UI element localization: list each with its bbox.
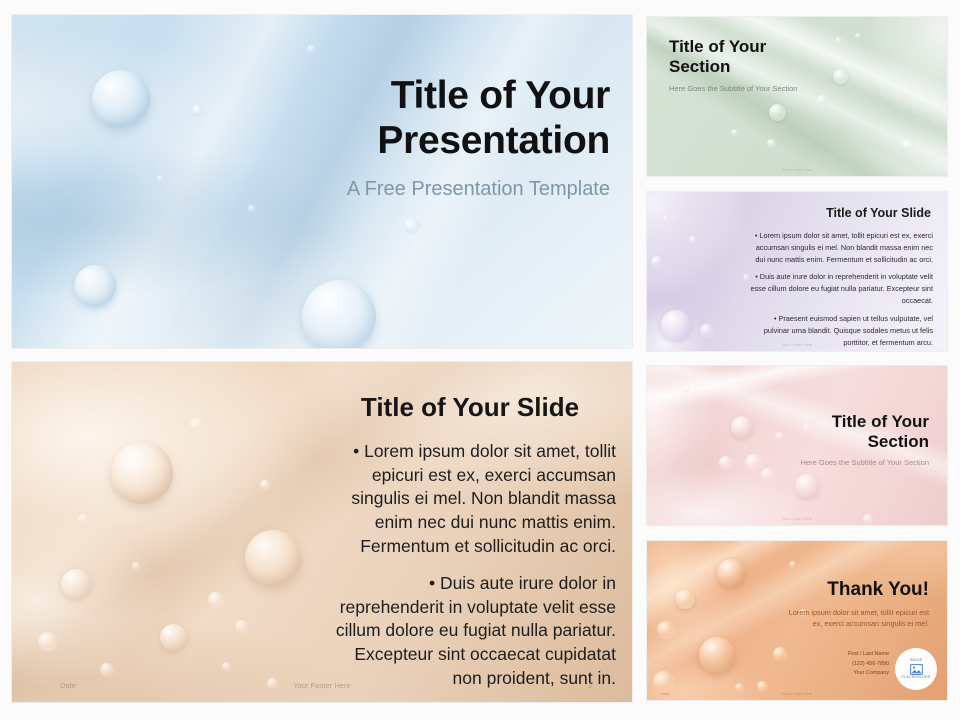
footer-text: Your Footer Here — [12, 681, 632, 690]
bullet-item: Duis aute irure dolor in reprehenderit i… — [747, 271, 933, 306]
bullet-list: Lorem ipsum dolor sit amet, tollit epicu… — [326, 440, 616, 702]
contact-name: First / Last Name — [809, 650, 889, 659]
water-droplet — [404, 218, 421, 235]
water-droplet — [160, 624, 187, 651]
slide-title-thumbnail[interactable]: Title of Your Presentation A Free Presen… — [12, 15, 632, 348]
water-droplet — [307, 45, 316, 54]
section-title: Title of Your Section — [669, 37, 819, 78]
water-droplet — [78, 514, 88, 524]
water-droplet — [689, 236, 697, 244]
water-droplet — [61, 569, 91, 599]
water-droplet — [245, 530, 301, 586]
water-droplet — [653, 671, 675, 693]
water-droplet — [700, 324, 714, 338]
contact-block: First / Last Name (123) 456-7890 Your Co… — [809, 650, 889, 678]
contact-company: Your Company — [809, 669, 889, 678]
water-droplet — [661, 310, 691, 340]
water-droplet — [833, 69, 848, 84]
thank-you-subtitle: Lorem ipsum dolor sit amet, tollit epicu… — [777, 607, 929, 630]
presentation-subtitle: A Free Presentation Template — [342, 175, 610, 203]
slide-section-green-thumbnail[interactable]: Title of Your Section Here Goes the Subt… — [647, 17, 947, 176]
water-droplet — [767, 139, 776, 148]
water-droplet — [38, 632, 58, 652]
water-droplet — [92, 70, 150, 128]
water-droplet — [248, 205, 256, 213]
water-droplet — [132, 562, 140, 570]
water-droplet — [719, 456, 733, 470]
water-droplet — [74, 265, 116, 307]
slide-footer: Your Footer Here — [647, 167, 947, 172]
water-droplet — [835, 37, 842, 44]
water-droplet — [817, 95, 828, 106]
water-droplet — [157, 175, 164, 182]
water-droplet — [717, 559, 745, 587]
water-droplet — [699, 637, 735, 673]
water-droplet — [663, 216, 669, 222]
slide-footer: Your Footer Here — [647, 342, 947, 347]
section-subtitle: Here Goes the Subtitle of Your Section — [669, 84, 799, 95]
slide-section-pink-thumbnail[interactable]: Title of Your Section Here Goes the Subt… — [647, 366, 947, 525]
section-subtitle: Here Goes the Subtitle of Your Section — [799, 458, 929, 469]
water-droplet — [192, 105, 204, 117]
section-title: Title of Your Section — [779, 412, 929, 453]
bullet-item: Lorem ipsum dolor sit amet, tollit epicu… — [747, 230, 933, 265]
water-droplet — [235, 620, 248, 633]
water-droplet — [855, 33, 861, 39]
slide-content-purple-thumbnail[interactable]: Title of Your Slide Lorem ipsum dolor si… — [647, 192, 947, 351]
slide-title-text: Title of Your Slide — [826, 206, 931, 220]
water-droplet — [773, 647, 787, 661]
water-droplet — [100, 663, 114, 677]
water-droplet — [745, 454, 762, 471]
water-droplet — [769, 104, 786, 121]
slide-thank-you-thumbnail[interactable]: Thank You! Lorem ipsum dolor sit amet, t… — [647, 541, 947, 700]
water-droplet — [731, 129, 738, 136]
image-placeholder-bottom-label: PLACEHOLDER — [902, 676, 931, 680]
slide-content-peach-thumbnail[interactable]: Title of Your Slide Lorem ipsum dolor si… — [12, 362, 632, 702]
water-droplet — [795, 474, 819, 498]
thank-you-title: Thank You! — [827, 579, 929, 601]
water-droplet — [302, 280, 376, 348]
image-placeholder-top-label: IMAGE — [910, 659, 923, 663]
water-droplet — [683, 386, 690, 393]
footer-page-number: 3 — [588, 681, 592, 690]
presentation-title: Title of Your Presentation — [342, 73, 610, 163]
slide-deck-preview: Title of Your Presentation A Free Presen… — [0, 0, 960, 720]
water-droplet — [657, 621, 675, 639]
contact-phone: (123) 456-7890 — [809, 660, 889, 669]
bullet-item: Duis aute irure dolor in reprehenderit i… — [326, 572, 616, 690]
water-droplet — [731, 416, 753, 438]
bullet-item: Lorem ipsum dolor sit amet, tollit epicu… — [326, 440, 616, 558]
slide-title-text: Title of Your Slide — [330, 392, 610, 423]
water-droplet — [208, 592, 224, 608]
water-droplet — [260, 480, 270, 490]
water-droplet — [789, 561, 796, 568]
water-droplet — [902, 139, 915, 152]
water-droplet — [111, 442, 173, 504]
water-droplet — [651, 256, 663, 268]
slide-footer: Your Footer Here — [647, 516, 947, 521]
footer-text: Your Footer Here — [647, 691, 947, 696]
water-droplet — [190, 418, 204, 432]
water-droplet — [761, 468, 774, 481]
water-droplet — [222, 662, 231, 671]
picture-icon — [910, 664, 923, 675]
bullet-list: Lorem ipsum dolor sit amet, tollit epicu… — [747, 230, 933, 351]
water-droplet — [675, 589, 695, 609]
image-placeholder-badge[interactable]: IMAGE PLACEHOLDER — [895, 648, 937, 690]
